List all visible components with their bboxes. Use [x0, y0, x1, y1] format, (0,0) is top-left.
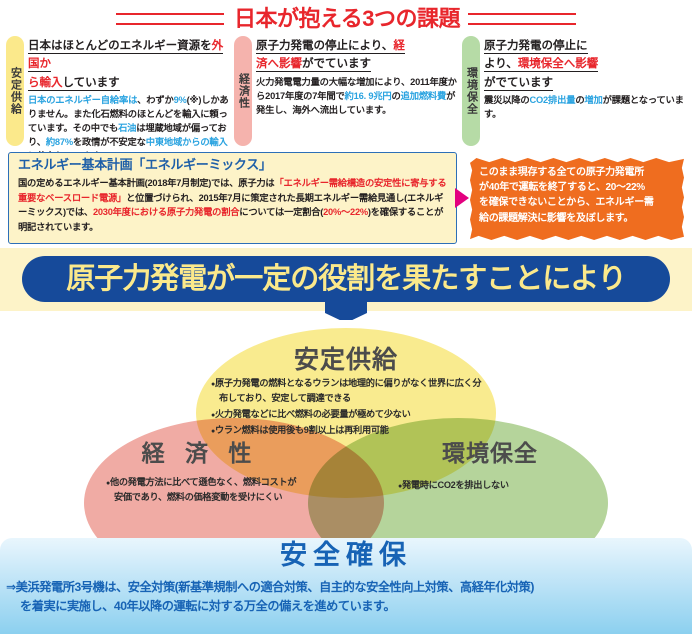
challenge-tab-economy: 経済性: [234, 36, 252, 146]
plan-line-4: 定割合(: [293, 207, 323, 217]
venn-label-economy: 経 済 性: [100, 442, 300, 465]
para-text-3c: を政: [73, 137, 91, 147]
title-rule-left: [116, 13, 224, 25]
venn-label-environment: 環境保全: [390, 442, 590, 465]
alert-callout: このまま現存する全ての原子力発電所 が40年で運転を終了すると、20〜22% を…: [470, 158, 684, 240]
challenge-tab-label: 経済性: [238, 73, 249, 109]
plan-line-1-emphasis: 「エネルギー需給構造の安定: [274, 178, 392, 188]
para-text-3: 間で: [326, 91, 344, 101]
challenge-column-economy: 経済性 原子力発電の停止により、経 済へ影響がでています 火力発電電力量の大幅な…: [234, 36, 458, 146]
para-text-1: 火力発電電力量の大幅な増加によ: [256, 77, 392, 87]
plan-line-2: と位置づけられ、2015年7月に策定された長期エネル: [126, 193, 341, 203]
list-item: 発電時にCO2を排出しない: [398, 478, 590, 493]
page-title-row: 日本が抱える3つの課題: [0, 4, 692, 34]
plan-box-title: エネルギー基本計画「エネルギーミックス」: [18, 158, 448, 173]
list-item: 他の発電方法に比べて遜色なく、燃料コストが安価であり、燃料の価格変動を受けにくい: [106, 475, 298, 505]
headline-part-1: 日本はほとんどのエネルギー資源を: [28, 40, 212, 52]
headline-part-1: 原子力発電の停止に: [484, 40, 588, 52]
title-rule-right: [468, 13, 576, 25]
list-item: ウラン燃料は使用後も9割以上は再利用可能: [211, 423, 483, 438]
para-emphasis-5: 中東地域からの輸入: [146, 137, 228, 147]
challenge-column-stable-supply: 安定供給 日本はほとんどのエネルギー資源を外国か ら輸入しています 日本のエネル…: [6, 36, 230, 146]
challenge-body-economy: 原子力発電の停止により、経 済へ影響がでています 火力発電電力量の大幅な増加によ…: [256, 36, 458, 146]
list-item: 火力発電などに比べ燃料の必要量が極めて少ない: [211, 407, 483, 422]
headline-part-2-emphasis: 環境保全へ影響: [518, 58, 599, 70]
headline-part-2: しています: [63, 77, 120, 89]
para-emphasis-2: 9%: [174, 95, 187, 105]
alert-line-3: を確保できないことから、エネルギー需: [479, 195, 676, 210]
safety-line-1: ⇒美浜発電所3号機は、安全対策(新基準規制への適合対策、自主的な安全性向上対策、…: [6, 578, 686, 597]
venn-list-stable-supply: 原子力発電の燃料となるウランは地理的に偏りがなく世界に広く分布しており、安定して…: [211, 376, 483, 439]
challenge-body-stable-supply: 日本はほとんどのエネルギー資源を外国か ら輸入しています 日本のエネルギー自給率…: [28, 36, 230, 146]
para-text-1: 震災以降の: [484, 95, 530, 105]
para-emphasis-4: 約87%: [46, 137, 73, 147]
alert-line-1: このまま現存する全ての原子力発電所: [479, 165, 676, 180]
plan-line-1: 国の定めるエネルギー基本計画(2018年7月制定)では、原子力は: [18, 178, 274, 188]
venn-list-environment: 発電時にCO2を排出しない: [398, 478, 590, 494]
headline-part-2-emphasis: ら輸入: [28, 77, 63, 89]
plan-line-3b: については一: [239, 207, 293, 217]
venn-label-stable-supply: 安定供給: [196, 348, 496, 373]
energy-basic-plan-box: エネルギー基本計画「エネルギーミックス」 国の定めるエネルギー基本計画(2018…: [8, 152, 457, 244]
challenge-paragraph: 火力発電電力量の大幅な増加により、2011年度から2017年度の7年間で約16.…: [256, 76, 458, 118]
headline-part-1-emphasis: 経: [393, 40, 405, 52]
headline-part-3: がでています: [484, 77, 553, 89]
para-emphasis-1: CO2排出量: [530, 95, 576, 105]
plan-line-3-emphasis: 2030年度における原子力発電の割合: [93, 207, 239, 217]
safety-section-title: 安全確保: [0, 542, 692, 569]
para-text-3b: の: [392, 91, 401, 101]
plan-line-4-emphasis: 20%〜22%: [323, 207, 368, 217]
para-text-3: その中でも: [73, 123, 119, 133]
para-emphasis-3: 石油: [118, 123, 136, 133]
safety-line-2: を着実に実施し、40年以降の運転に対する万全の備えを進めています。: [6, 597, 686, 616]
banner-tail: [325, 302, 367, 313]
role-banner: 原子力発電が一定の役割を果たすことにより: [22, 256, 670, 302]
alert-line-4: 給の課題解決に影響を及ぼします。: [479, 211, 676, 226]
venn-list-economy: 他の発電方法に比べて遜色なく、燃料コストが安価であり、燃料の価格変動を受けにくい: [106, 475, 298, 506]
arrow-right-icon: [455, 188, 469, 208]
headline-part-2: より、: [484, 58, 518, 70]
safety-section-body: ⇒美浜発電所3号機は、安全対策(新基準規制への適合対策、自主的な安全性向上対策、…: [6, 578, 686, 616]
para-text-4: 情が不安定な: [91, 137, 146, 147]
challenge-tab-environment: 環境保全: [462, 36, 480, 146]
plan-box-body: 国の定めるエネルギー基本計画(2018年7月制定)では、原子力は「エネルギー需給…: [18, 176, 448, 235]
para-text-4: 生し、海外へ流出しています。: [265, 105, 391, 115]
challenge-headline: 原子力発電の停止に より、環境保全へ影響 がでています: [484, 36, 686, 91]
para-emphasis-1: 日本のエネルギー自給率は: [28, 95, 137, 105]
headline-part-2-emphasis: 済へ影響: [256, 58, 302, 70]
challenge-column-environment: 環境保全 原子力発電の停止に より、環境保全へ影響 がでています 震災以降のCO…: [462, 36, 686, 146]
venn-diagram: 安定供給 原子力発電の燃料となるウランは地理的に偏りがなく世界に広く分布しており…: [0, 320, 692, 540]
challenge-body-environment: 原子力発電の停止に より、環境保全へ影響 がでています 震災以降のCO2排出量の…: [484, 36, 686, 146]
headline-part-1: 原子力発電の停止により、: [256, 40, 393, 52]
list-item: 原子力発電の燃料となるウランは地理的に偏りがなく世界に広く分布しており、安定して…: [211, 376, 483, 406]
page-title: 日本が抱える3つの課題: [234, 8, 460, 30]
alert-line-2: が40年で運転を終了すると、20〜22%: [479, 180, 676, 195]
challenge-headline: 原子力発電の停止により、経 済へ影響がでています: [256, 36, 458, 73]
para-emphasis-2: 追加燃料費: [401, 91, 447, 101]
challenges-columns: 安定供給 日本はほとんどのエネルギー資源を外国か ら輸入しています 日本のエネル…: [6, 36, 686, 146]
challenge-tab-label: 安定供給: [10, 67, 21, 115]
challenge-headline: 日本はほとんどのエネルギー資源を外国か ら輸入しています: [28, 36, 230, 91]
role-banner-text: 原子力発電が一定の役割を果たすことにより: [66, 265, 625, 294]
para-emphasis-2: 増加: [584, 95, 602, 105]
para-text-1: 、わずか: [137, 95, 173, 105]
challenge-tab-label: 環境保全: [466, 67, 477, 115]
para-emphasis-1: 約16. 9兆円: [345, 91, 392, 101]
headline-part-2: がでています: [302, 58, 371, 70]
challenge-tab-stable-supply: 安定供給: [6, 36, 24, 146]
challenge-paragraph: 震災以降のCO2排出量の増加が課題となっています。: [484, 94, 686, 122]
